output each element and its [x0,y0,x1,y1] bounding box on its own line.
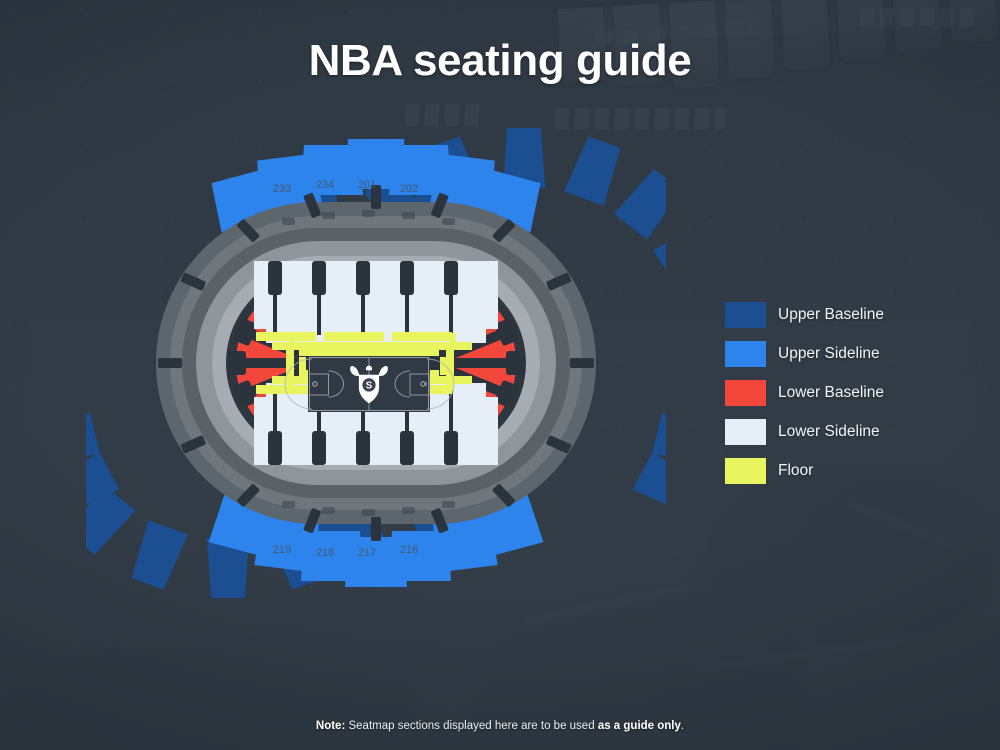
svg-text:201: 201 [358,179,376,191]
svg-text:218: 218 [316,547,334,559]
legend-label-lower-baseline: Lower Baseline [778,380,884,406]
seatmap-legend: Upper Baseline Upper Sideline Lower Base… [725,302,985,497]
legend-item-upper-baseline[interactable]: Upper Baseline [725,302,985,328]
legend-item-upper-sideline[interactable]: Upper Sideline [725,341,985,367]
legend-swatch-lower-sideline [725,419,766,445]
legend-swatch-floor [725,458,766,484]
legend-swatch-lower-baseline [725,380,766,406]
svg-text:219: 219 [273,544,291,556]
disclaimer-prefix: Note: [316,720,345,732]
seatmap-disclaimer: Note: Seatmap sections displayed here ar… [0,718,1000,734]
disclaimer-emphasis: as a guide only [598,720,681,732]
svg-text:233: 233 [273,183,291,195]
legend-swatch-upper-sideline [725,341,766,367]
legend-item-floor[interactable]: Floor [725,458,985,484]
disclaimer-text: Seatmap sections displayed here are to b… [345,720,598,732]
svg-text:234: 234 [316,179,334,191]
legend-item-lower-baseline[interactable]: Lower Baseline [725,380,985,406]
legend-label-upper-baseline: Upper Baseline [778,302,884,328]
legend-item-lower-sideline[interactable]: Lower Sideline [725,419,985,445]
seating-guide-page: NBA seating guide [0,0,1000,750]
svg-text:202: 202 [400,183,418,195]
disclaimer-suffix: . [681,720,684,732]
svg-text:S: S [366,381,373,392]
legend-swatch-upper-baseline [725,302,766,328]
svg-text:216: 216 [400,544,418,556]
legend-label-lower-sideline: Lower Sideline [778,419,880,445]
legend-label-upper-sideline: Upper Sideline [778,341,880,367]
legend-label-floor: Floor [778,458,813,484]
svg-text:217: 217 [358,547,376,559]
arena-seatmap[interactable]: 233 234 201 202 219 218 217 216 [86,128,666,598]
page-title: NBA seating guide [0,36,1000,86]
